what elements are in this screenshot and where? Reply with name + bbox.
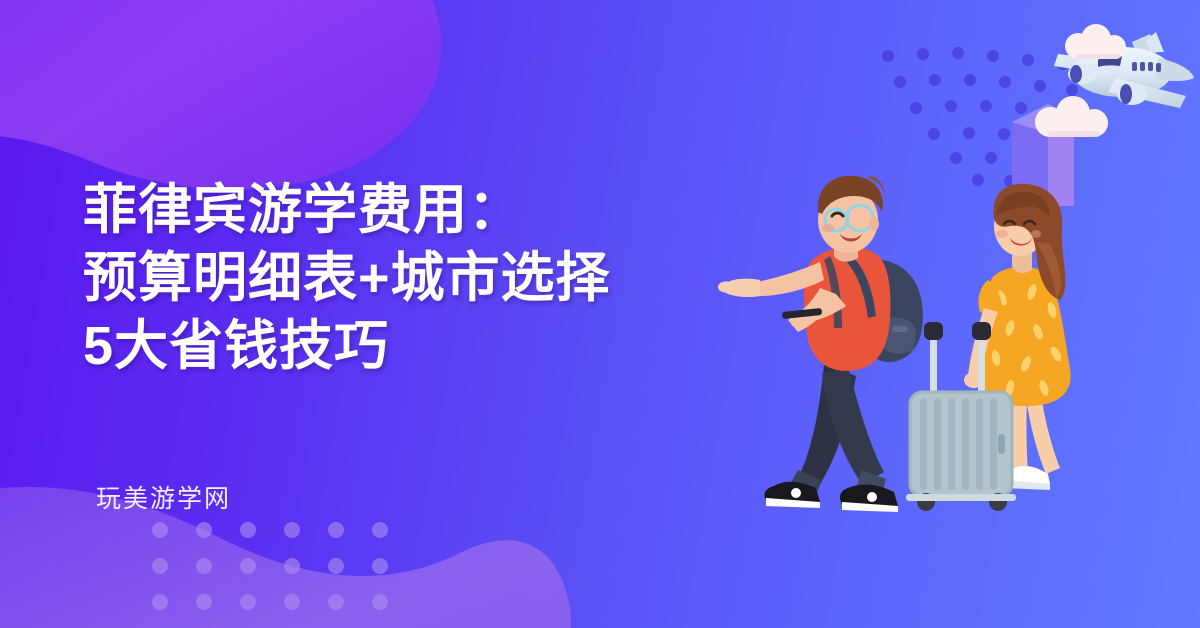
title-line-2: 预算明细表+城市选择 <box>83 244 611 312</box>
bottom-left-blob <box>0 478 620 628</box>
bottom-dot-grid <box>150 520 410 628</box>
man-pointing <box>716 168 966 518</box>
airplane <box>1046 22 1198 132</box>
title-line-3: 5大省钱技巧 <box>83 312 611 380</box>
rolling-suitcase <box>902 306 1032 522</box>
title-line-1: 菲律宾游学费用： <box>83 176 611 244</box>
cloud <box>1028 94 1118 140</box>
cloud <box>1058 22 1136 62</box>
brand-watermark: 玩美游学网 <box>96 482 231 516</box>
poster-canvas: 菲律宾游学费用： 预算明细表+城市选择 5大省钱技巧 玩美游学网 <box>0 0 1200 628</box>
page-title: 菲律宾游学费用： 预算明细表+城市选择 5大省钱技巧 <box>83 176 611 380</box>
woman-with-suitcase <box>940 182 1120 522</box>
airplane-trail-dots <box>880 38 1100 188</box>
pillar-bar <box>1004 96 1084 206</box>
